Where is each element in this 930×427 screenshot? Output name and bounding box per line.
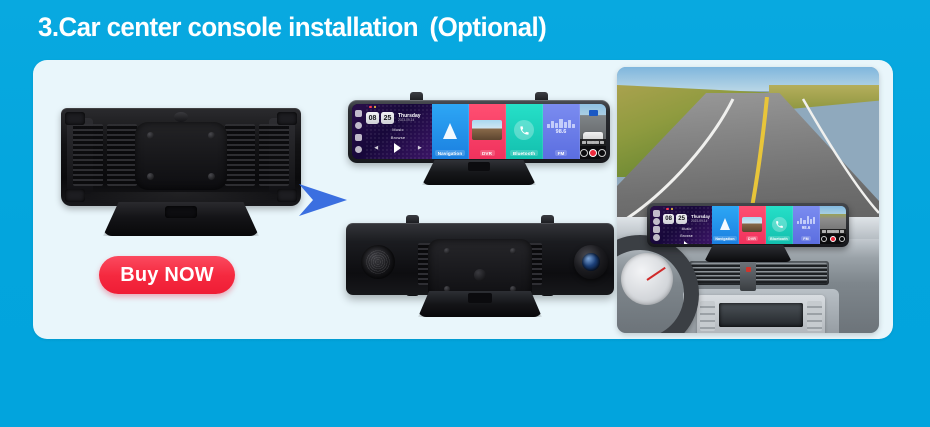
photo-home-widgets: 08 25 Thursday 2023-09-14 Music Browse <box>662 206 712 244</box>
tile-navigation-label: Navigation <box>435 150 464 156</box>
screw-icon <box>208 173 215 180</box>
camera-toolbar-item[interactable] <box>600 141 604 144</box>
photo-button-icon[interactable] <box>580 149 588 157</box>
camera-toolbar-item[interactable] <box>831 230 835 233</box>
tile-dvr[interactable]: DVR <box>739 206 766 244</box>
photo-speedometer <box>621 253 673 305</box>
clock-minute: 25 <box>381 112 394 124</box>
photo-date-widget: Thursday 2023-09-14 <box>691 215 710 223</box>
device-stand-notch <box>468 293 492 303</box>
status-dot-red <box>666 208 669 211</box>
rear-housing <box>346 223 614 295</box>
status-indicators <box>666 208 673 211</box>
dashcam-photo-icon <box>472 120 502 140</box>
bluetooth-phone-icon <box>772 217 787 232</box>
camera-toolbar-item[interactable] <box>822 230 826 233</box>
photo-device-screen: 08 25 Thursday 2023-09-14 Music Browse <box>650 206 846 244</box>
clock-hour: 08 <box>663 214 674 224</box>
buy-now-button[interactable]: Buy NOW <box>99 256 235 294</box>
fm-frequency: 98.6 <box>556 129 567 135</box>
bracket-stand-notch <box>165 206 197 218</box>
play-icon[interactable] <box>684 241 689 244</box>
camera-toolbar-item[interactable] <box>827 230 831 233</box>
music-label[interactable]: Music <box>663 227 710 231</box>
date-sub-label: 2023-09-14 <box>691 220 710 223</box>
status-dot-red <box>369 106 372 109</box>
screw-icon <box>147 173 154 180</box>
mounting-plate <box>135 122 227 190</box>
photo-device-stand <box>704 245 792 262</box>
home-icon[interactable] <box>653 226 660 233</box>
photo-screen-side-rail[interactable] <box>650 206 662 244</box>
rear-camera-preview[interactable] <box>580 104 606 159</box>
playback-button-icon[interactable] <box>839 236 845 242</box>
speaker-grille-icon <box>361 245 395 279</box>
photo-mounted-device: 08 25 Thursday 2023-09-14 Music Browse <box>647 203 849 257</box>
dashboard-installation-photo: 08 25 Thursday 2023-09-14 Music Browse <box>617 67 879 333</box>
photo-hazard-switch <box>740 257 756 291</box>
optional-label: (Optional) <box>430 12 547 42</box>
tile-fm-label: FM <box>555 150 567 156</box>
screw-icon <box>444 248 450 254</box>
content-card: Buy NOW <box>33 60 893 339</box>
photo-screen-home-panel: 08 25 Thursday 2023-09-14 Music Browse <box>650 206 712 244</box>
tile-bluetooth[interactable]: Bluetooth <box>506 104 543 159</box>
page-background: 3.Car center console installation(Option… <box>0 0 930 427</box>
playback-button-icon[interactable] <box>598 149 606 157</box>
tile-bluetooth[interactable]: Bluetooth <box>766 206 793 244</box>
tile-navigation[interactable]: Navigation <box>432 104 469 159</box>
screw-icon <box>208 132 215 139</box>
status-indicators <box>369 106 376 109</box>
photo-button-icon[interactable] <box>821 236 827 242</box>
next-track-icon[interactable]: ▶ <box>418 145 422 151</box>
home-widgets: 08 25 Thursday 2023-09-14 Music Browse ◀ <box>365 104 432 159</box>
tile-fm-label: FM <box>801 236 811 241</box>
music-controls[interactable]: ◀ ▶ <box>366 143 430 153</box>
back-icon[interactable] <box>653 234 660 241</box>
photo-radio-buttons-right <box>807 301 822 331</box>
photo-device-bezel: 08 25 Thursday 2023-09-14 Music Browse <box>647 203 849 247</box>
device-bezel: 08 25 Thursday 2023-09-14 Music Browse ◀ <box>348 100 610 163</box>
ball-joint <box>474 269 486 281</box>
road-sign-icon <box>589 110 598 116</box>
screw-icon <box>510 248 516 254</box>
status-dot-amber <box>374 106 377 109</box>
tile-dvr-label: DVR <box>480 150 495 156</box>
music-controls[interactable]: ◀ ▶ <box>663 241 710 244</box>
camera-toolbar-item[interactable] <box>587 141 591 144</box>
prev-track-icon[interactable]: ◀ <box>374 145 378 151</box>
back-icon[interactable] <box>355 146 362 153</box>
tile-fm[interactable]: 98.6 FM <box>793 206 820 244</box>
vent-fins-left-b <box>107 124 137 186</box>
radio-waves-icon <box>797 216 815 224</box>
record-button-icon[interactable] <box>830 236 836 242</box>
music-label[interactable]: Music <box>366 127 430 132</box>
tile-dvr[interactable]: DVR <box>469 104 506 159</box>
apps-icon[interactable] <box>653 210 660 217</box>
camera-toolbar-item[interactable] <box>840 230 844 233</box>
bracket-knob <box>174 112 188 122</box>
corner-clip <box>277 112 297 125</box>
device-screen: 08 25 Thursday 2023-09-14 Music Browse ◀ <box>352 104 606 159</box>
screen-side-rail[interactable] <box>352 104 365 159</box>
device-front-view: 08 25 Thursday 2023-09-14 Music Browse ◀ <box>348 92 610 182</box>
camera-toolbar[interactable] <box>580 139 606 146</box>
tile-bluetooth-label: Bluetooth <box>768 236 791 241</box>
navigation-arrow-icon <box>720 218 730 230</box>
clock-minute: 25 <box>676 214 687 224</box>
play-icon[interactable] <box>394 143 401 153</box>
radio-waves-icon <box>547 118 575 128</box>
tile-navigation[interactable]: Navigation <box>712 206 739 244</box>
screw-icon <box>147 132 154 139</box>
camera-controls[interactable] <box>580 146 606 159</box>
camera-toolbar-item[interactable] <box>595 141 599 144</box>
camera-toolbar-item[interactable] <box>591 141 595 144</box>
apps-icon[interactable] <box>355 110 362 117</box>
corner-clip <box>277 189 297 202</box>
settings-gear-icon[interactable] <box>355 122 362 129</box>
corner-clip <box>65 189 85 202</box>
camera-toolbar-item[interactable] <box>835 230 839 233</box>
photo-radio-head-unit <box>697 295 825 333</box>
photo-clock-widget: 08 25 Thursday 2023-09-14 <box>663 214 710 224</box>
navigation-arrow-icon <box>443 123 457 139</box>
record-button-icon[interactable] <box>589 149 597 157</box>
date-sub-label: 2023-09-14 <box>398 119 421 122</box>
product-image-bracket-back <box>61 108 301 238</box>
photo-radio-display <box>719 303 803 327</box>
dashcam-photo-icon <box>742 217 762 232</box>
date-widget: Thursday 2023-09-14 <box>398 114 421 123</box>
clock-widget: 08 25 Thursday 2023-09-14 <box>366 112 430 124</box>
camera-controls[interactable] <box>820 234 846 244</box>
photo-radio-buttons-left <box>700 301 715 331</box>
tile-bluetooth-label: Bluetooth <box>510 150 537 156</box>
tile-fm[interactable]: 98.6 FM <box>543 104 580 159</box>
corner-clip <box>65 112 85 125</box>
tile-dvr-label: DVR <box>746 236 759 241</box>
page-title-text: 3.Car center console installation <box>38 12 418 42</box>
photo-rear-camera-preview[interactable] <box>820 206 846 244</box>
vent-fins-right-a <box>225 124 255 186</box>
clock-hour: 08 <box>366 112 379 124</box>
device-stand-notch <box>468 162 490 171</box>
browse-label[interactable]: Browse <box>366 135 430 140</box>
vent-fins-right-b <box>259 124 289 186</box>
camera-lens-icon <box>574 245 608 279</box>
forward-arrow-icon <box>295 178 351 222</box>
fm-frequency: 98.6 <box>802 225 811 230</box>
status-dot-amber <box>671 208 674 211</box>
home-icon[interactable] <box>355 134 362 141</box>
browse-label[interactable]: Browse <box>663 234 710 238</box>
tile-navigation-label: Navigation <box>713 236 737 241</box>
camera-toolbar-item[interactable] <box>582 141 586 144</box>
prev-track-icon[interactable]: ◀ <box>669 243 672 245</box>
device-rear-view <box>346 215 614 323</box>
decorative-dot-grid <box>662 206 712 244</box>
next-track-icon[interactable]: ▶ <box>701 243 704 245</box>
page-title: 3.Car center console installation(Option… <box>38 12 546 43</box>
vent-fins-left-a <box>73 124 103 186</box>
screen-home-panel: 08 25 Thursday 2023-09-14 Music Browse ◀ <box>352 104 432 159</box>
bracket-body <box>61 108 301 206</box>
photo-air-vents <box>689 261 829 285</box>
bluetooth-phone-icon <box>514 120 534 140</box>
settings-gear-icon[interactable] <box>653 218 660 225</box>
